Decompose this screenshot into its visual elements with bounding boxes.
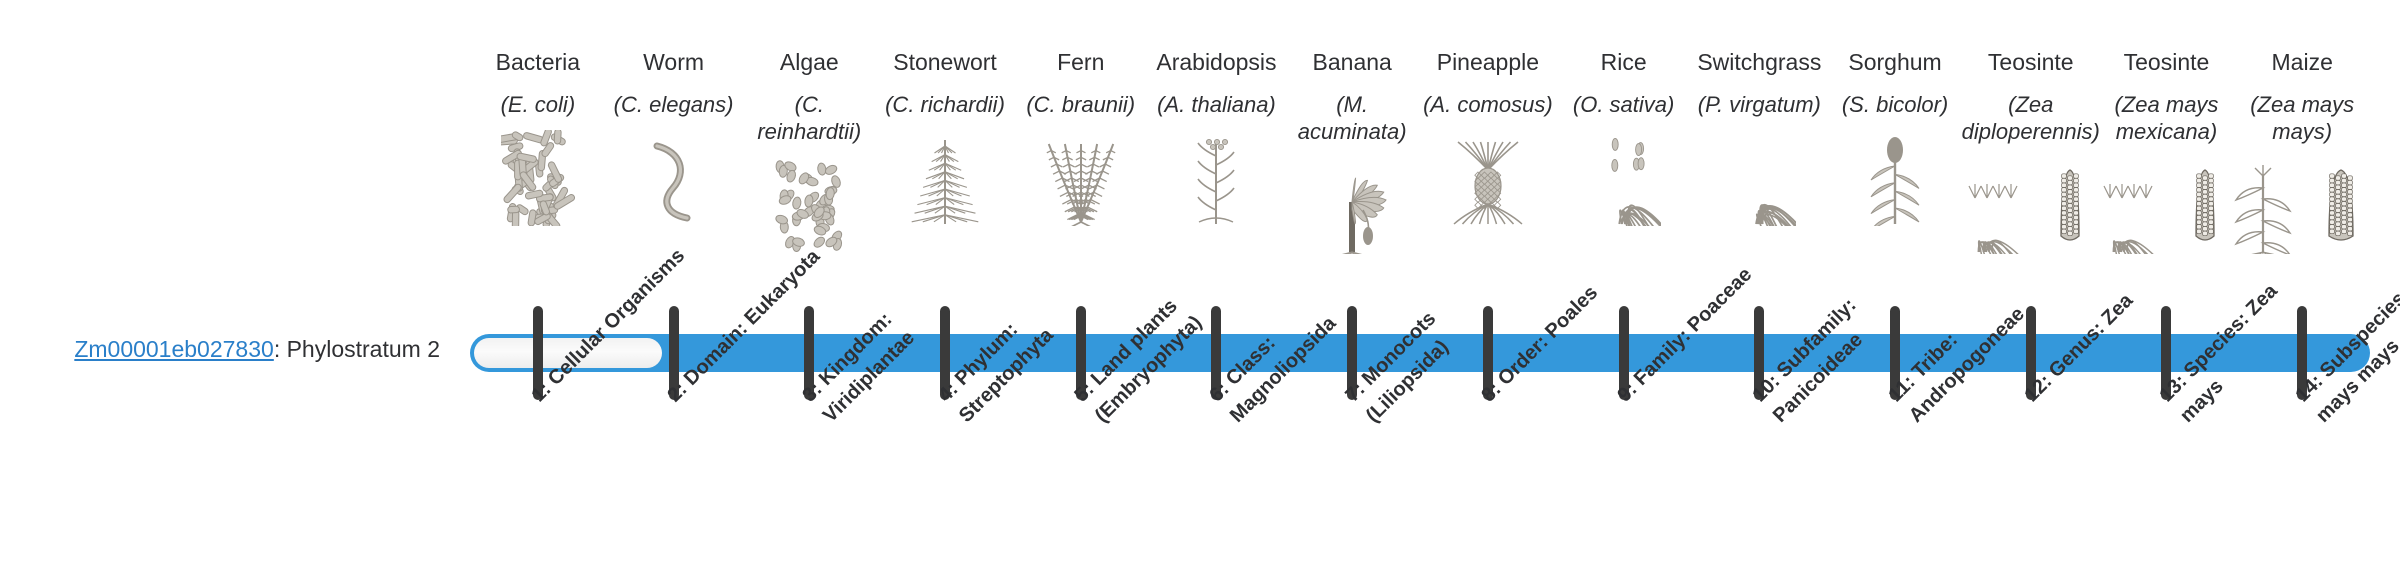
species-header-row: Bacteria(E. coli)Worm(C. elegans)Algae(C… xyxy=(470,48,2370,298)
species-scientific-name: (C. braunii) xyxy=(1026,91,1135,119)
species-common-name: Worm xyxy=(643,48,704,77)
species-scientific-name: (Zea mays mays) xyxy=(2234,91,2370,146)
species-common-name: Switchgrass xyxy=(1697,48,1821,77)
species-column: Teosinte(Zea mays mexicana) xyxy=(2099,48,2235,254)
species-column: Banana(M. acuminata) xyxy=(1284,48,1420,254)
species-common-name: Fern xyxy=(1057,48,1104,77)
sorghum-icon xyxy=(1858,126,1932,226)
gene-label-separator: : xyxy=(274,336,287,362)
species-column: Maize(Zea mays mays) xyxy=(2234,48,2370,254)
bacteria-rods-icon xyxy=(501,126,575,226)
gene-phylostratum-label: Zm00001eb027830: Phylostratum 2 xyxy=(40,336,440,364)
maize-ear-icon xyxy=(2226,154,2378,254)
species-scientific-name: (E. coli) xyxy=(501,91,576,119)
species-column: Fern(C. braunii) xyxy=(1013,48,1149,226)
switchgrass-icon xyxy=(1722,126,1796,226)
phylostratum-figure: Zm00001eb027830: Phylostratum 2 Bacteria… xyxy=(0,0,2400,580)
species-column: Worm(C. elegans) xyxy=(606,48,742,226)
teosinte-icon xyxy=(1955,154,2107,254)
species-scientific-name: (A. comosus) xyxy=(1423,91,1553,119)
rice-plant-icon xyxy=(1587,126,1661,226)
species-column: Sorghum(S. bicolor) xyxy=(1827,48,1963,226)
species-column: Stonewort(C. richardii) xyxy=(877,48,1013,226)
species-scientific-name: (C. reinhardtii) xyxy=(741,91,877,146)
species-column: Pineapple(A. comosus) xyxy=(1420,48,1556,226)
teosinte-ear-icon xyxy=(2090,154,2242,254)
species-scientific-name: (S. bicolor) xyxy=(1842,91,1948,119)
stonewort-icon xyxy=(908,126,982,226)
species-common-name: Sorghum xyxy=(1848,48,1941,77)
phylostrata-label-row: 1: Cellular Organisms2: Domain: Eukaryot… xyxy=(470,376,2370,580)
species-column: Switchgrass(P. virgatum) xyxy=(1691,48,1827,226)
algae-cells-icon xyxy=(772,154,846,254)
nematode-worm-icon xyxy=(637,126,711,226)
pineapple-icon xyxy=(1451,126,1525,226)
gene-id-link[interactable]: Zm00001eb027830 xyxy=(74,336,274,362)
species-column: Arabidopsis(A. thaliana) xyxy=(1149,48,1285,226)
species-common-name: Rice xyxy=(1601,48,1647,77)
species-column: Teosinte(Zea diploperennis) xyxy=(1963,48,2099,254)
species-common-name: Stonewort xyxy=(893,48,997,77)
species-common-name: Pineapple xyxy=(1437,48,1539,77)
species-common-name: Teosinte xyxy=(2124,48,2210,77)
species-common-name: Arabidopsis xyxy=(1156,48,1276,77)
species-scientific-name: (Zea diploperennis) xyxy=(1962,91,2100,146)
species-scientific-name: (P. virgatum) xyxy=(1698,91,1821,119)
species-scientific-name: (Zea mays mexicana) xyxy=(2099,91,2235,146)
fern-icon xyxy=(1044,126,1118,226)
species-common-name: Algae xyxy=(780,48,839,77)
gene-phylostratum-value: Phylostratum 2 xyxy=(287,336,440,362)
species-scientific-name: (C. richardii) xyxy=(885,91,1005,119)
species-scientific-name: (O. sativa) xyxy=(1573,91,1674,119)
species-scientific-name: (M. acuminata) xyxy=(1284,91,1420,146)
banana-tree-icon xyxy=(1315,154,1389,254)
species-scientific-name: (A. thaliana) xyxy=(1157,91,1276,119)
species-common-name: Banana xyxy=(1313,48,1392,77)
species-common-name: Maize xyxy=(2272,48,2333,77)
species-common-name: Bacteria xyxy=(496,48,580,77)
arabidopsis-icon xyxy=(1179,126,1253,226)
species-column: Algae(C. reinhardtii) xyxy=(741,48,877,254)
species-scientific-name: (C. elegans) xyxy=(614,91,734,119)
species-common-name: Teosinte xyxy=(1988,48,2074,77)
species-column: Rice(O. sativa) xyxy=(1556,48,1692,226)
species-column: Bacteria(E. coli) xyxy=(470,48,606,226)
